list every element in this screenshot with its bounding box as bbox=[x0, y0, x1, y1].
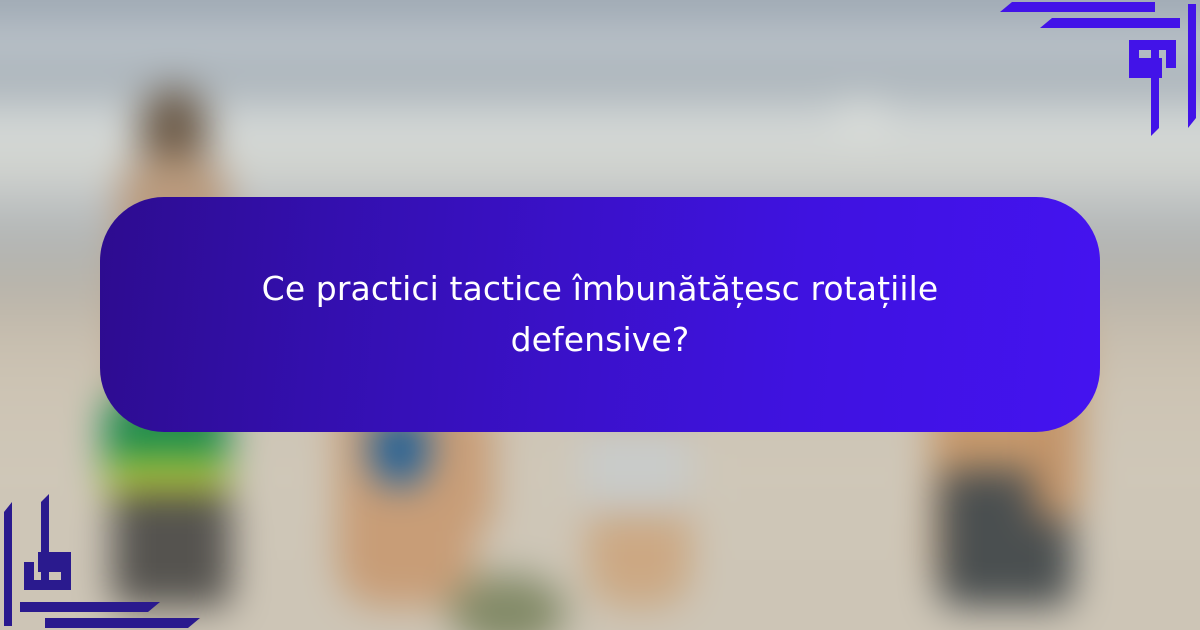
question-card: Ce practici tactice îmbunătățesc rotații… bbox=[100, 197, 1100, 432]
question-text: Ce practici tactice îmbunătățesc rotații… bbox=[220, 264, 980, 364]
background-horizon-line bbox=[0, 32, 1200, 49]
background-figure-shorts-grey bbox=[112, 490, 231, 607]
background-highlight-blob bbox=[833, 98, 890, 140]
poster-canvas: Ce practici tactice îmbunătățesc rotații… bbox=[0, 0, 1200, 630]
background-figure-shorts-light bbox=[581, 418, 691, 513]
